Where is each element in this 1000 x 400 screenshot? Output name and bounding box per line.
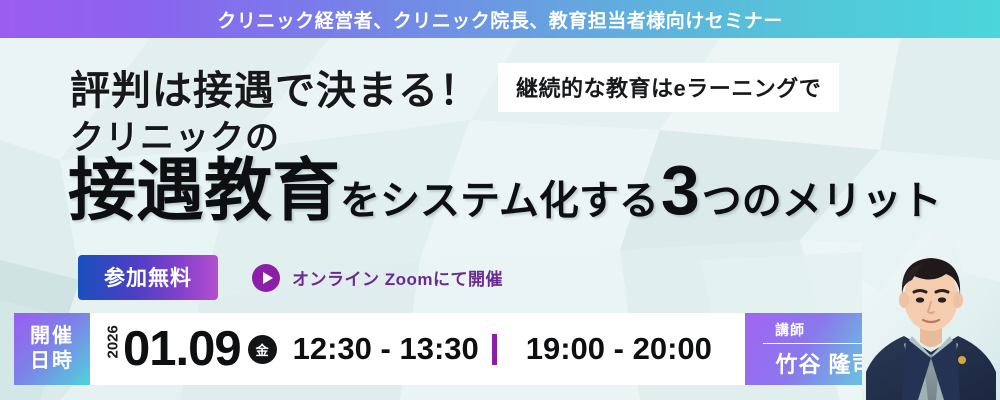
speaker-role-label: 講師 bbox=[775, 320, 805, 340]
headline-line1: 評判は接遇で決まる！ bbox=[70, 58, 480, 116]
headline-line3-part-b: つのメリット bbox=[702, 181, 942, 221]
headline-benefit-count: 3 bbox=[659, 155, 702, 225]
datetime-label-box: 開催 日時 bbox=[14, 313, 90, 385]
headline-line1-row: 評判は接遇で決まる！ 継続的な教育はeラーニングで bbox=[70, 58, 839, 116]
time-separator bbox=[492, 334, 497, 365]
headline-line2: クリニックの bbox=[70, 110, 280, 159]
datetime-label-line2: 日時 bbox=[30, 349, 74, 374]
top-audience-ribbon: クリニック経営者、クリニック院長、教育担当者様向けセミナー bbox=[0, 0, 1000, 38]
headline-tagbox: 継続的な教育はeラーニングで bbox=[498, 63, 839, 112]
event-date: 01.09 bbox=[123, 325, 241, 374]
event-time-first: 12:30 - 13:30 bbox=[293, 331, 479, 367]
headline-line3-part-a: をシステム化する bbox=[340, 181, 659, 221]
badge-row: 参加無料 オンライン Zoomにて開催 bbox=[78, 255, 503, 300]
speaker-photo bbox=[862, 232, 1000, 400]
top-ribbon-text: クリニック経営者、クリニック院長、教育担当者様向けセミナー bbox=[217, 6, 783, 33]
datetime-label-line1: 開催 bbox=[30, 324, 74, 349]
seminar-banner: クリニック経営者、クリニック院長、教育担当者様向けセミナー 評判は接遇で決まる！… bbox=[0, 0, 1000, 400]
event-time-second: 19:00 - 20:00 bbox=[526, 331, 712, 367]
event-year: 2026 bbox=[105, 340, 122, 358]
play-triangle bbox=[263, 272, 273, 284]
speaker-name: 竹谷 隆司 bbox=[775, 347, 874, 379]
online-delivery-info: オンライン Zoomにて開催 bbox=[252, 264, 503, 292]
online-delivery-label: オンライン Zoomにて開催 bbox=[292, 265, 503, 290]
free-admission-badge: 参加無料 bbox=[78, 255, 218, 300]
play-icon bbox=[252, 264, 280, 292]
headline-emphasis-term: 接遇教育 bbox=[68, 157, 340, 225]
headline-line3-row: 接遇教育 をシステム化する 3 つのメリット bbox=[68, 155, 942, 225]
speaker-portrait-illustration bbox=[862, 232, 1000, 400]
event-day-of-week: 金 bbox=[248, 335, 277, 364]
